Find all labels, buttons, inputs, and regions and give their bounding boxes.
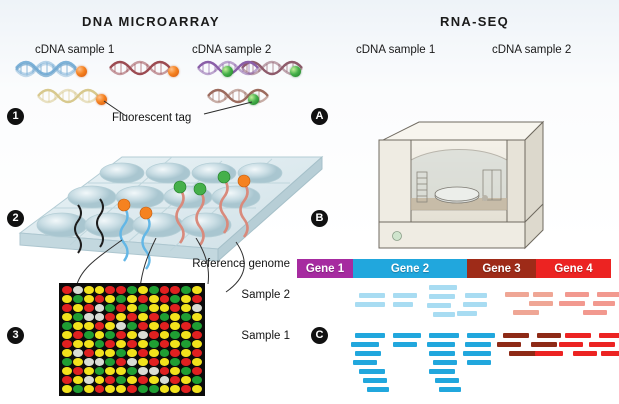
- sequence-read: [583, 310, 607, 315]
- heatmap-cell: [116, 367, 126, 375]
- heatmap-cell: [95, 313, 105, 321]
- heatmap-cell: [84, 322, 94, 330]
- sequence-read: [363, 378, 387, 383]
- sequence-read: [393, 333, 421, 338]
- heatmap-cell: [105, 313, 115, 321]
- heatmap-cell: [138, 340, 148, 348]
- heatmap-cell: [160, 358, 170, 366]
- sequence-read: [439, 387, 461, 392]
- heatmap-cell: [95, 349, 105, 357]
- heatmap-cell: [84, 331, 94, 339]
- heatmap-cell: [105, 322, 115, 330]
- heatmap-cell: [149, 358, 159, 366]
- heatmap-cell: [116, 304, 126, 312]
- sequence-read: [355, 333, 385, 338]
- sequence-read: [429, 294, 455, 299]
- heatmap-cell: [116, 349, 126, 357]
- heatmap-cell: [149, 376, 159, 384]
- aligned-reads-area: [297, 283, 613, 401]
- heatmap-cell: [95, 340, 105, 348]
- heatmap-cell: [116, 385, 126, 393]
- heatmap-cell: [95, 376, 105, 384]
- sequence-read: [509, 351, 537, 356]
- heatmap-cell: [73, 322, 83, 330]
- heatmap-cell: [105, 376, 115, 384]
- heatmap-cell: [181, 367, 191, 375]
- heatmap-cell: [181, 385, 191, 393]
- sequence-read: [593, 301, 615, 306]
- sequence-read: [559, 342, 583, 347]
- sequencing-machine: [357, 114, 554, 257]
- left-panel-title: DNA MICROARRAY: [82, 14, 220, 29]
- heatmap-cell: [192, 313, 202, 321]
- heatmap-cell: [116, 331, 126, 339]
- sequence-read: [565, 333, 591, 338]
- heatmap-cell: [84, 295, 94, 303]
- sequence-read: [597, 292, 619, 297]
- heatmap-cell: [84, 286, 94, 294]
- sequence-read: [465, 293, 487, 298]
- right-sample2-label: cDNA sample 2: [492, 44, 571, 56]
- heatmap-cell: [192, 367, 202, 375]
- sequence-read: [393, 342, 417, 347]
- heatmap-cell: [160, 304, 170, 312]
- heatmap-cell: [192, 385, 202, 393]
- sequence-read: [537, 333, 561, 338]
- heatmap-cell: [84, 304, 94, 312]
- fluorescent-bead-orange: [76, 66, 87, 77]
- heatmap-cell: [62, 286, 72, 294]
- heatmap-cell: [73, 385, 83, 393]
- heatmap-cell: [138, 331, 148, 339]
- heatmap-cell: [192, 349, 202, 357]
- left-sample2-label: cDNA sample 2: [192, 44, 271, 56]
- sequence-read: [359, 369, 385, 374]
- heatmap-cell: [127, 349, 137, 357]
- sequence-read: [351, 342, 379, 347]
- heatmap-cell: [105, 331, 115, 339]
- heatmap-cell: [170, 304, 180, 312]
- sequence-read: [513, 310, 539, 315]
- heatmap-cell: [116, 322, 126, 330]
- row-label-sample-1: Sample 1: [186, 330, 290, 343]
- heatmap-cell: [149, 340, 159, 348]
- heatmap-cell: [170, 295, 180, 303]
- heatmap-cell: [105, 367, 115, 375]
- sequence-read: [599, 333, 619, 338]
- sequence-read: [429, 369, 455, 374]
- heatmap-cell: [127, 340, 137, 348]
- heatmap-cell: [95, 385, 105, 393]
- heatmap-cell: [105, 358, 115, 366]
- heatmap-cell: [73, 376, 83, 384]
- sequence-read: [355, 302, 385, 307]
- heatmap-cell: [170, 331, 180, 339]
- heatmap-cell: [116, 358, 126, 366]
- heatmap-cell: [62, 367, 72, 375]
- sequence-read: [573, 351, 597, 356]
- heatmap-cell: [105, 295, 115, 303]
- heatmap-cell: [84, 376, 94, 384]
- sequence-read: [503, 333, 529, 338]
- sequence-read: [601, 351, 619, 356]
- heatmap-cell: [170, 322, 180, 330]
- heatmap-cell: [73, 295, 83, 303]
- heatmap-cell: [127, 376, 137, 384]
- fluorescent-bead-orange: [168, 66, 179, 77]
- heatmap-cell: [170, 340, 180, 348]
- heatmap-cell: [192, 358, 202, 366]
- heatmap-cell: [170, 349, 180, 357]
- heatmap-cell: [116, 313, 126, 321]
- microarray-plate: [4, 133, 324, 278]
- fluorescent-bead-green: [222, 66, 233, 77]
- heatmap-cell: [62, 331, 72, 339]
- sequence-read: [559, 301, 585, 306]
- heatmap-cell: [160, 376, 170, 384]
- sequence-read: [465, 342, 491, 347]
- sequence-read: [355, 351, 381, 356]
- heatmap-cell: [73, 286, 83, 294]
- heatmap-cell: [95, 286, 105, 294]
- sequence-read: [435, 378, 459, 383]
- heatmap-cell: [127, 367, 137, 375]
- heatmap-cell: [84, 340, 94, 348]
- heatmap-cell: [138, 367, 148, 375]
- sequence-read: [531, 342, 557, 347]
- gene-segment-4: Gene 4: [536, 259, 611, 278]
- sequence-read: [359, 293, 385, 298]
- heatmap-cell: [160, 349, 170, 357]
- heatmap-cell: [160, 367, 170, 375]
- sequence-read: [427, 303, 451, 308]
- heatmap-cell: [62, 349, 72, 357]
- sequence-read: [367, 387, 389, 392]
- heatmap-cell: [149, 349, 159, 357]
- heatmap-cell: [192, 322, 202, 330]
- sequence-read: [429, 351, 455, 356]
- heatmap-cell: [138, 376, 148, 384]
- heatmap-cell: [73, 304, 83, 312]
- heatmap-cell: [149, 331, 159, 339]
- heatmap-cell: [192, 304, 202, 312]
- heatmap-cell: [192, 376, 202, 384]
- heatmap-cell: [160, 313, 170, 321]
- heatmap-cell: [105, 385, 115, 393]
- heatmap-cell: [138, 313, 148, 321]
- heatmap-cell: [116, 376, 126, 384]
- step-marker-3: 3: [7, 327, 24, 344]
- heatmap-cell: [95, 304, 105, 312]
- heatmap-cell: [105, 286, 115, 294]
- heatmap-cell: [127, 385, 137, 393]
- heatmap-cell: [84, 358, 94, 366]
- heatmap-cell: [116, 295, 126, 303]
- heatmap-cell: [170, 385, 180, 393]
- heatmap-cell: [149, 295, 159, 303]
- heatmap-cell: [138, 358, 148, 366]
- sequence-read: [457, 311, 477, 316]
- heatmap-cell: [95, 295, 105, 303]
- sequence-read: [463, 302, 487, 307]
- heatmap-cell: [181, 349, 191, 357]
- heatmap-cell: [138, 304, 148, 312]
- heatmap-cell: [149, 304, 159, 312]
- sequence-read: [463, 351, 491, 356]
- heatmap-cell: [160, 295, 170, 303]
- heatmap-cell: [181, 304, 191, 312]
- heatmap-cell: [138, 322, 148, 330]
- heatmap-cell: [127, 286, 137, 294]
- heatmap-cell: [160, 340, 170, 348]
- heatmap-cell: [62, 376, 72, 384]
- heatmap-cell: [149, 286, 159, 294]
- heatmap-cell: [95, 367, 105, 375]
- heatmap-cell: [138, 286, 148, 294]
- heatmap-cell: [170, 313, 180, 321]
- heatmap-cell: [127, 313, 137, 321]
- sequence-read: [535, 351, 563, 356]
- heatmap-cell: [116, 286, 126, 294]
- heatmap-cell: [62, 304, 72, 312]
- sequence-read: [565, 292, 589, 297]
- heatmap-cell: [62, 295, 72, 303]
- heatmap-cell: [62, 358, 72, 366]
- heatmap-cell: [95, 322, 105, 330]
- heatmap-cell: [160, 331, 170, 339]
- heatmap-cell: [170, 286, 180, 294]
- heatmap-cell: [127, 304, 137, 312]
- heatmap-cell: [149, 322, 159, 330]
- left-sample1-label: cDNA sample 1: [35, 44, 114, 56]
- sequence-read: [529, 301, 553, 306]
- heatmap-cell: [170, 358, 180, 366]
- sequence-read: [353, 360, 377, 365]
- right-panel-title: RNA-SEQ: [440, 14, 509, 29]
- heatmap-cell: [116, 340, 126, 348]
- sequence-read: [467, 333, 495, 338]
- heatmap-cell: [84, 385, 94, 393]
- heatmap-cell: [138, 295, 148, 303]
- heatmap-cell: [105, 304, 115, 312]
- row-label-reference-genome: Reference genome: [186, 258, 290, 271]
- heatmap-cell: [181, 313, 191, 321]
- heatmap-cell: [62, 313, 72, 321]
- heatmap-cell: [181, 376, 191, 384]
- heatmap-cell: [73, 340, 83, 348]
- heatmap-cell: [127, 358, 137, 366]
- sequence-read: [393, 302, 413, 307]
- sequence-read: [429, 333, 459, 338]
- right-sample1-label: cDNA sample 1: [356, 44, 435, 56]
- sequence-read: [497, 342, 521, 347]
- heatmap-cell: [149, 385, 159, 393]
- gene-segment-1: Gene 1: [297, 259, 353, 278]
- heatmap-cell: [181, 358, 191, 366]
- gene-segment-3: Gene 3: [467, 259, 536, 278]
- heatmap-cell: [149, 313, 159, 321]
- sequence-read: [433, 312, 455, 317]
- heatmap-cell: [127, 331, 137, 339]
- sequence-read: [589, 342, 615, 347]
- heatmap-cell: [95, 331, 105, 339]
- heatmap-cell: [62, 385, 72, 393]
- heatmap-cell: [105, 340, 115, 348]
- heatmap-cell: [127, 295, 137, 303]
- heatmap-cell: [84, 349, 94, 357]
- heatmap-cell: [62, 322, 72, 330]
- sequence-read: [429, 285, 457, 290]
- heatmap-cell: [73, 331, 83, 339]
- heatmap-cell: [73, 313, 83, 321]
- sequence-read: [467, 360, 491, 365]
- fluorescent-bead-green: [290, 66, 301, 77]
- heatmap-cell: [73, 367, 83, 375]
- heatmap-cell: [160, 286, 170, 294]
- heatmap-cell: [181, 322, 191, 330]
- sequence-read: [427, 342, 455, 347]
- heatmap-cell: [84, 313, 94, 321]
- gene-segment-2: Gene 2: [353, 259, 467, 278]
- heatmap-cell: [149, 367, 159, 375]
- sequence-read: [533, 292, 553, 297]
- reference-genome-gene-bar: Gene 1Gene 2Gene 3Gene 4: [297, 259, 611, 278]
- sequence-read: [433, 360, 457, 365]
- heatmap-cell: [73, 349, 83, 357]
- sequence-read: [505, 292, 529, 297]
- heatmap-cell: [160, 385, 170, 393]
- heatmap-cell: [138, 349, 148, 357]
- heatmap-cell: [105, 349, 115, 357]
- heatmap-cell: [170, 367, 180, 375]
- heatmap-cell: [170, 376, 180, 384]
- heatmap-cell: [84, 367, 94, 375]
- row-label-sample-2: Sample 2: [186, 289, 290, 302]
- heatmap-cell: [95, 358, 105, 366]
- sequence-read: [393, 293, 417, 298]
- microarray-heatmap: [59, 283, 205, 396]
- heatmap-cell: [73, 358, 83, 366]
- heatmap-cell: [127, 322, 137, 330]
- heatmap-cell: [62, 340, 72, 348]
- fluorescent-tag-label: Fluorescent tag: [112, 112, 191, 124]
- heatmap-cell: [160, 322, 170, 330]
- heatmap-cell: [138, 385, 148, 393]
